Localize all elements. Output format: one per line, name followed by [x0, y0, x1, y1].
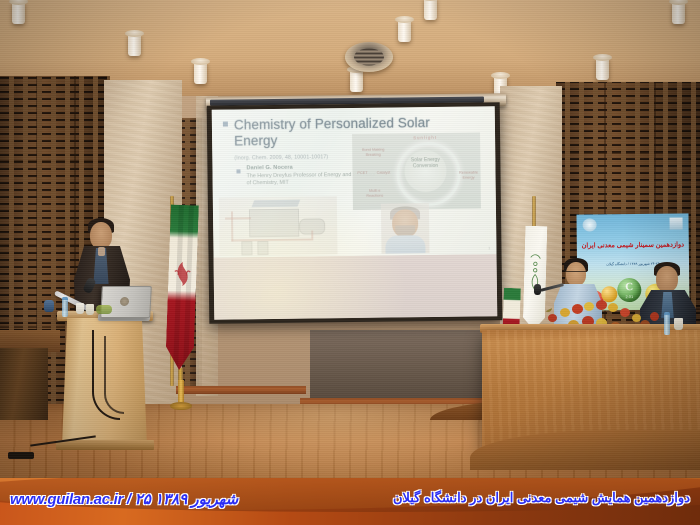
downlight-icon	[424, 0, 437, 20]
slide-page-number: 1	[488, 245, 490, 250]
projection-screen: Chemistry of Personalized Solar Energy (…	[207, 102, 503, 324]
paper-cup	[76, 303, 84, 314]
downlight-icon	[350, 70, 363, 92]
diagram-node-label: Multi-e Reactions	[361, 189, 389, 199]
microphone-base	[44, 300, 54, 312]
desk-plant	[96, 305, 112, 314]
laptop-logo-icon	[120, 297, 129, 306]
podium-base	[56, 440, 154, 450]
diagram-center-label: Solar Energy Conversion	[405, 157, 445, 170]
screen-blank-area	[214, 254, 498, 319]
iran-emblem-icon	[171, 257, 194, 292]
downlight-icon	[194, 62, 207, 84]
photograph-canvas: Chemistry of Personalized Solar Energy (…	[0, 0, 700, 525]
downlight-icon	[12, 2, 25, 24]
table-microphone-head-icon	[534, 284, 541, 295]
power-cable	[104, 336, 124, 414]
event-date: ۲۵ شهریور ۱۳۸۹	[135, 491, 239, 508]
downlight-icon	[128, 34, 141, 56]
diagram-top-label: Sunlight	[396, 135, 454, 141]
floor-stand-post	[178, 380, 184, 404]
banner-logo-right-icon	[670, 217, 683, 229]
banner-carbon-symbol: C 2.01	[617, 278, 641, 302]
water-bottle	[62, 297, 68, 317]
diagram-node-label: Renewable Energy	[456, 170, 480, 180]
diagram-node-label: Bond Making Breaking	[356, 148, 390, 158]
slide-speaker-name: Daniel G. Nocera	[246, 165, 292, 172]
banner-title: دوازدهمین سمینار شیمی معدنی ایران	[581, 240, 685, 249]
diagram-node-label: Catalyst	[372, 171, 394, 176]
bottom-caption-bar: www.guilan.ac.ir / ۲۵ شهریور ۱۳۸۹ دوازده…	[0, 478, 700, 525]
speaker-portrait-photo	[381, 203, 430, 254]
side-table-body	[0, 348, 48, 420]
slide-citation: (Inorg. Chem. 2009, 48, 10001-10017)	[234, 154, 328, 161]
floor-stand-base	[170, 402, 192, 410]
solar-house-schematic	[219, 196, 338, 255]
downlight-icon	[398, 20, 411, 42]
solar-energy-cycle-diagram: Sunlight Solar Energy Conversion Bond Ma…	[352, 132, 481, 210]
baseboard	[176, 386, 306, 394]
separator: /	[127, 491, 131, 508]
drinking-glass	[674, 318, 683, 330]
bottom-bar-event-title: دوازدهمین همایش شیمی معدنی ایران در دانش…	[393, 490, 690, 506]
iran-flag	[165, 205, 199, 371]
bottom-bar-left-text: www.guilan.ac.ir / ۲۵ شهریور ۱۳۸۹	[10, 490, 238, 508]
downlight-icon	[672, 2, 685, 24]
banner-logo-left-icon	[583, 218, 597, 231]
bullet-square-icon	[223, 122, 228, 127]
diagram-node-label: PCET	[353, 171, 371, 176]
water-bottle	[664, 312, 670, 335]
banner-element-mass: 2.01	[617, 294, 641, 299]
banner-element-symbol: C	[617, 281, 641, 293]
presentation-slide: Chemistry of Personalized Solar Energy (…	[212, 106, 497, 257]
sub-bullet-square-icon	[236, 169, 240, 173]
rear-wall-section	[310, 330, 500, 408]
floor-cable-plug	[8, 452, 34, 459]
website-url: www.guilan.ac.ir	[10, 491, 123, 508]
screen-surface: Chemistry of Personalized Solar Energy (…	[212, 106, 498, 319]
downlight-icon	[596, 58, 609, 80]
ceiling-vent-icon	[345, 42, 393, 72]
paper-cup	[86, 304, 94, 315]
